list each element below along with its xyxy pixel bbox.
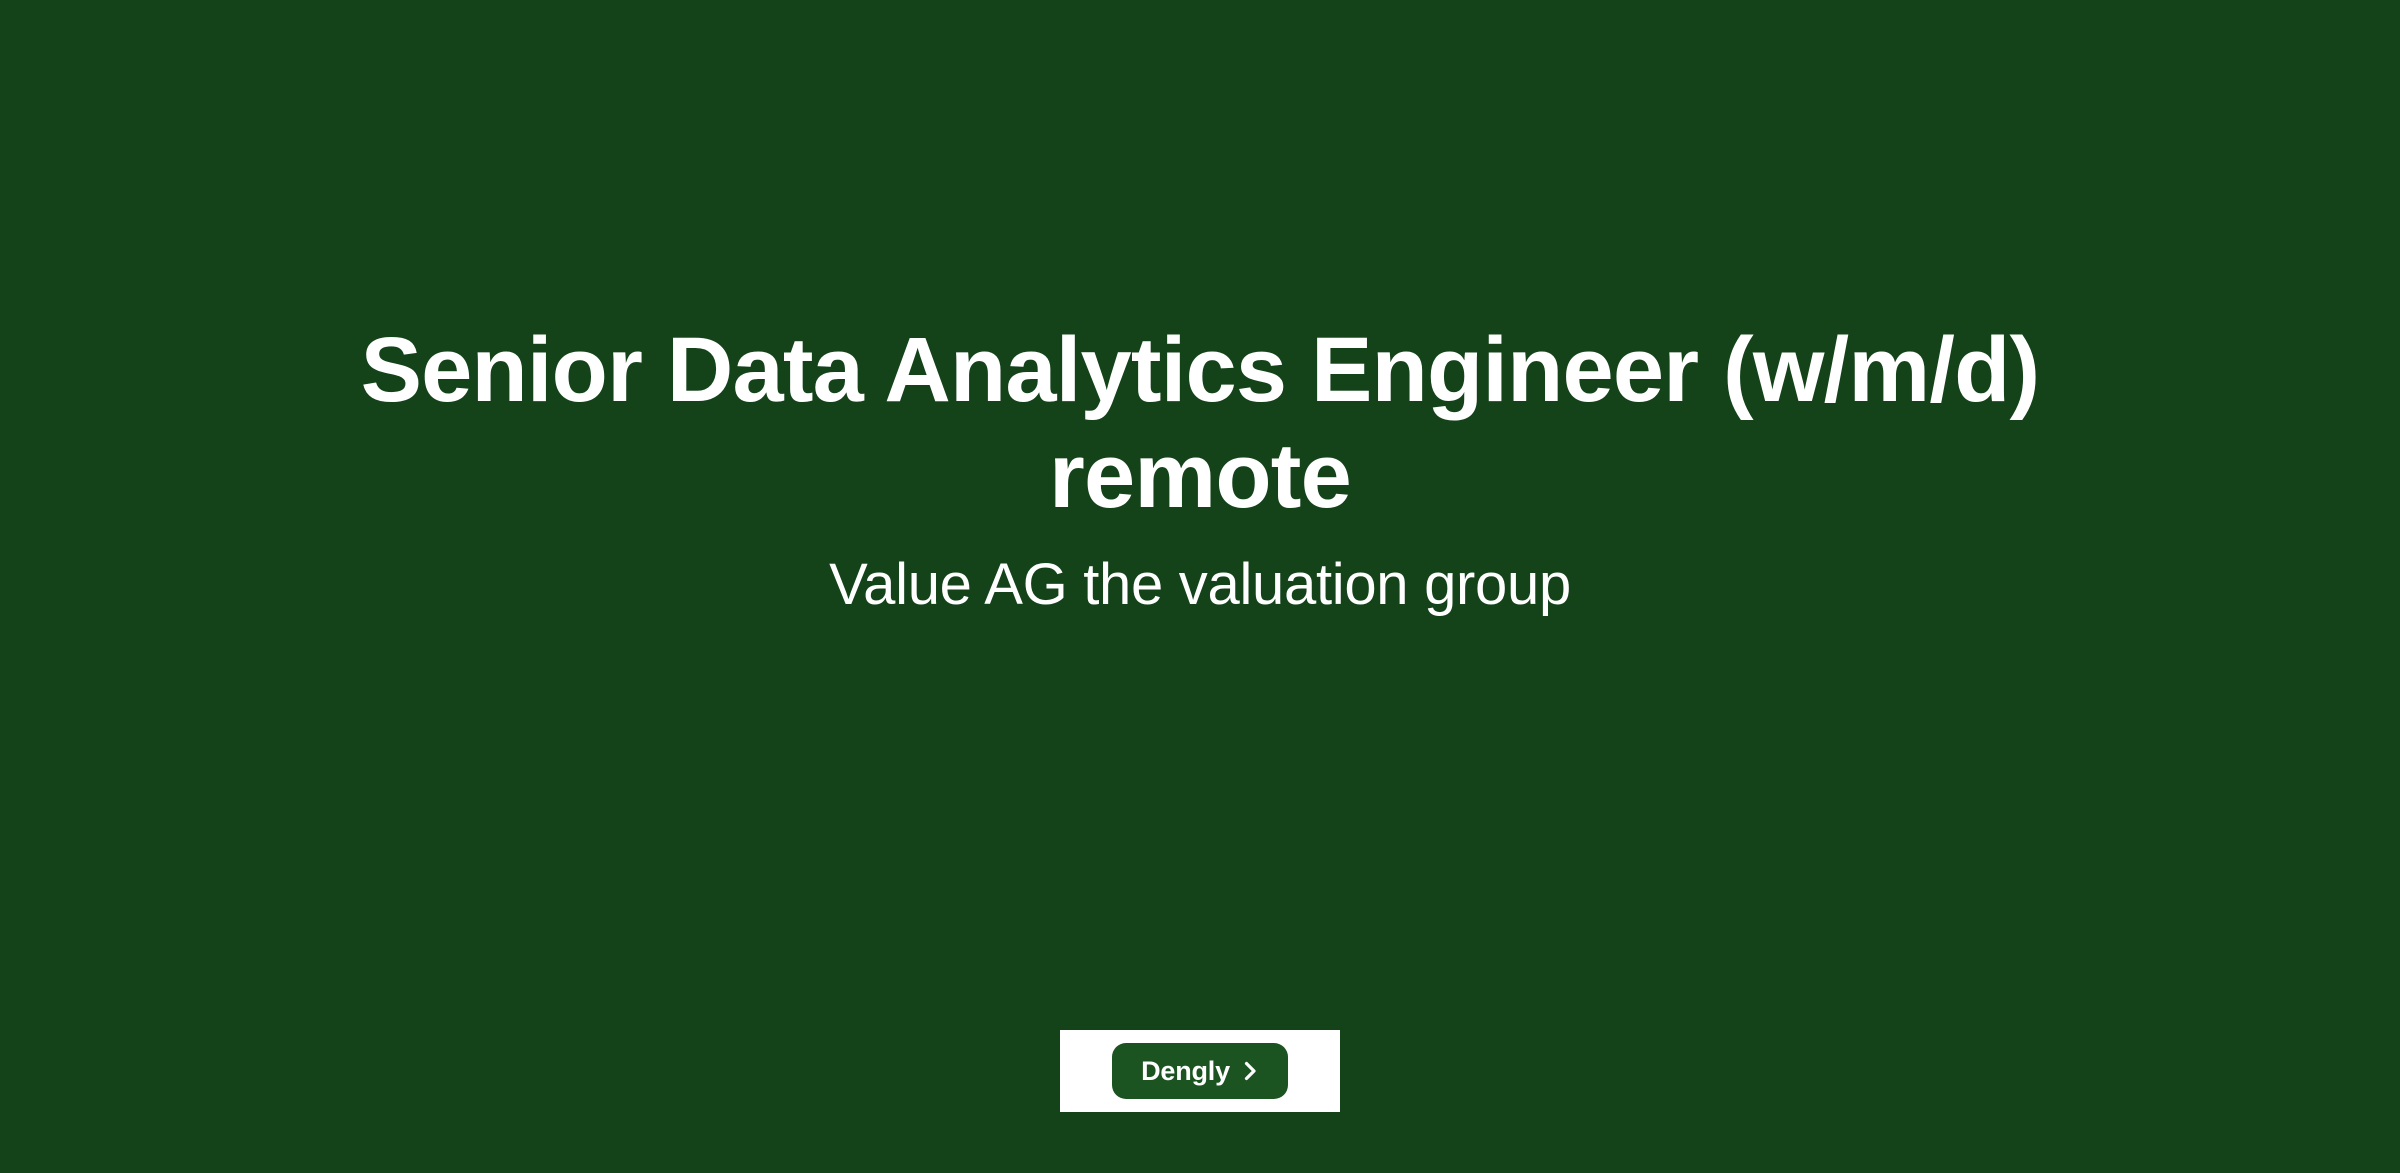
brand-pill[interactable]: Dengly <box>1112 1043 1288 1099</box>
brand-badge[interactable]: Dengly <box>1060 1030 1340 1112</box>
page-title: Senior Data Analytics Engineer (w/m/d) r… <box>320 318 2080 530</box>
hero-section: Senior Data Analytics Engineer (w/m/d) r… <box>0 318 2400 619</box>
brand-wordmark: Dengly <box>1141 1058 1230 1085</box>
job-posting-poster: Senior Data Analytics Engineer (w/m/d) r… <box>0 0 2400 1173</box>
chevron-right-icon <box>1243 1060 1259 1082</box>
company-name: Value AG the valuation group <box>320 550 2080 620</box>
